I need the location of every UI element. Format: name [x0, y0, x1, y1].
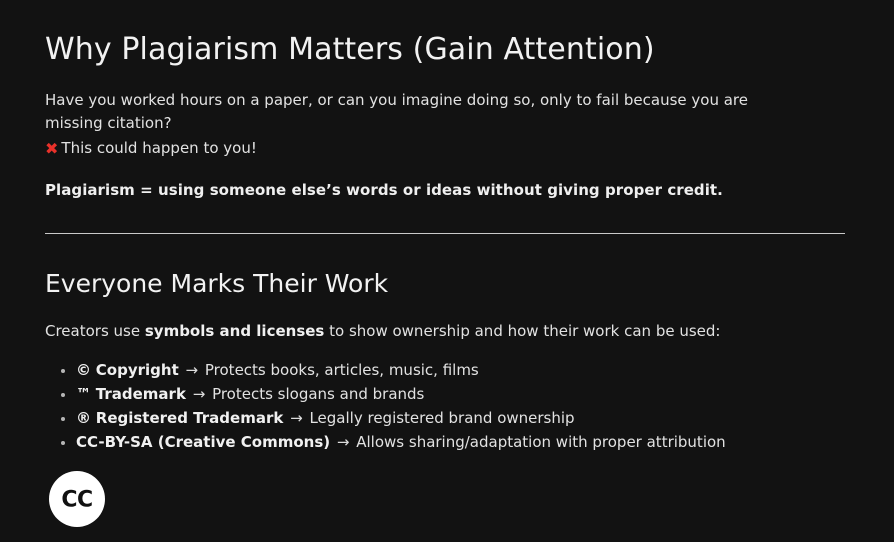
mark-label: Trademark	[96, 385, 186, 403]
cross-mark-icon: ✖	[45, 137, 57, 161]
mark-label: Copyright	[96, 361, 179, 379]
plagiarism-definition: Plagiarism = using someone else’s words …	[45, 160, 849, 199]
list-item: © Copyright → Protects books, articles, …	[45, 358, 726, 382]
mark-label: Registered Trademark	[96, 409, 284, 427]
list-item: CC-BY-SA (Creative Commons) → Allows sha…	[45, 430, 726, 454]
mark-label: CC-BY-SA (Creative Commons)	[76, 433, 330, 451]
mark-symbol-icon: ®	[76, 409, 91, 427]
intro-bold-text: symbols and licenses	[145, 322, 325, 340]
arrow-icon: →	[335, 433, 352, 451]
mark-symbol-icon: ©	[76, 361, 91, 379]
mark-description: Allows sharing/adaptation with proper at…	[356, 433, 725, 451]
arrow-icon: →	[288, 409, 305, 427]
mark-description: Protects books, articles, music, films	[205, 361, 479, 379]
section-divider	[45, 233, 845, 234]
page-title: Why Plagiarism Matters (Gain Attention)	[45, 0, 849, 68]
arrow-icon: →	[184, 361, 201, 379]
mark-description: Legally registered brand ownership	[309, 409, 574, 427]
section-heading: Everyone Marks Their Work	[45, 269, 388, 299]
list-item: ™ Trademark → Protects slogans and brand…	[45, 382, 726, 406]
arrow-icon: →	[191, 385, 208, 403]
intro-after-text: to show ownership and how their work can…	[324, 322, 720, 340]
intro-before-text: Creators use	[45, 322, 145, 340]
warning-line: ✖This could happen to you!	[45, 136, 805, 161]
marks-list: © Copyright → Protects books, articles, …	[45, 358, 726, 454]
lead-question-text: Have you worked hours on a paper, or can…	[45, 91, 748, 133]
mark-symbol-icon: ™	[76, 385, 91, 403]
creative-commons-icon: CC	[49, 471, 105, 527]
intro-paragraph: Creators use symbols and licenses to sho…	[45, 320, 720, 342]
slide-container: Why Plagiarism Matters (Gain Attention) …	[0, 0, 894, 542]
mark-description: Protects slogans and brands	[212, 385, 424, 403]
warning-text: This could happen to you!	[61, 139, 256, 157]
lead-paragraph: Have you worked hours on a paper, or can…	[45, 68, 805, 161]
svg-text:CC: CC	[61, 488, 92, 513]
list-item: ® Registered Trademark → Legally registe…	[45, 406, 726, 430]
